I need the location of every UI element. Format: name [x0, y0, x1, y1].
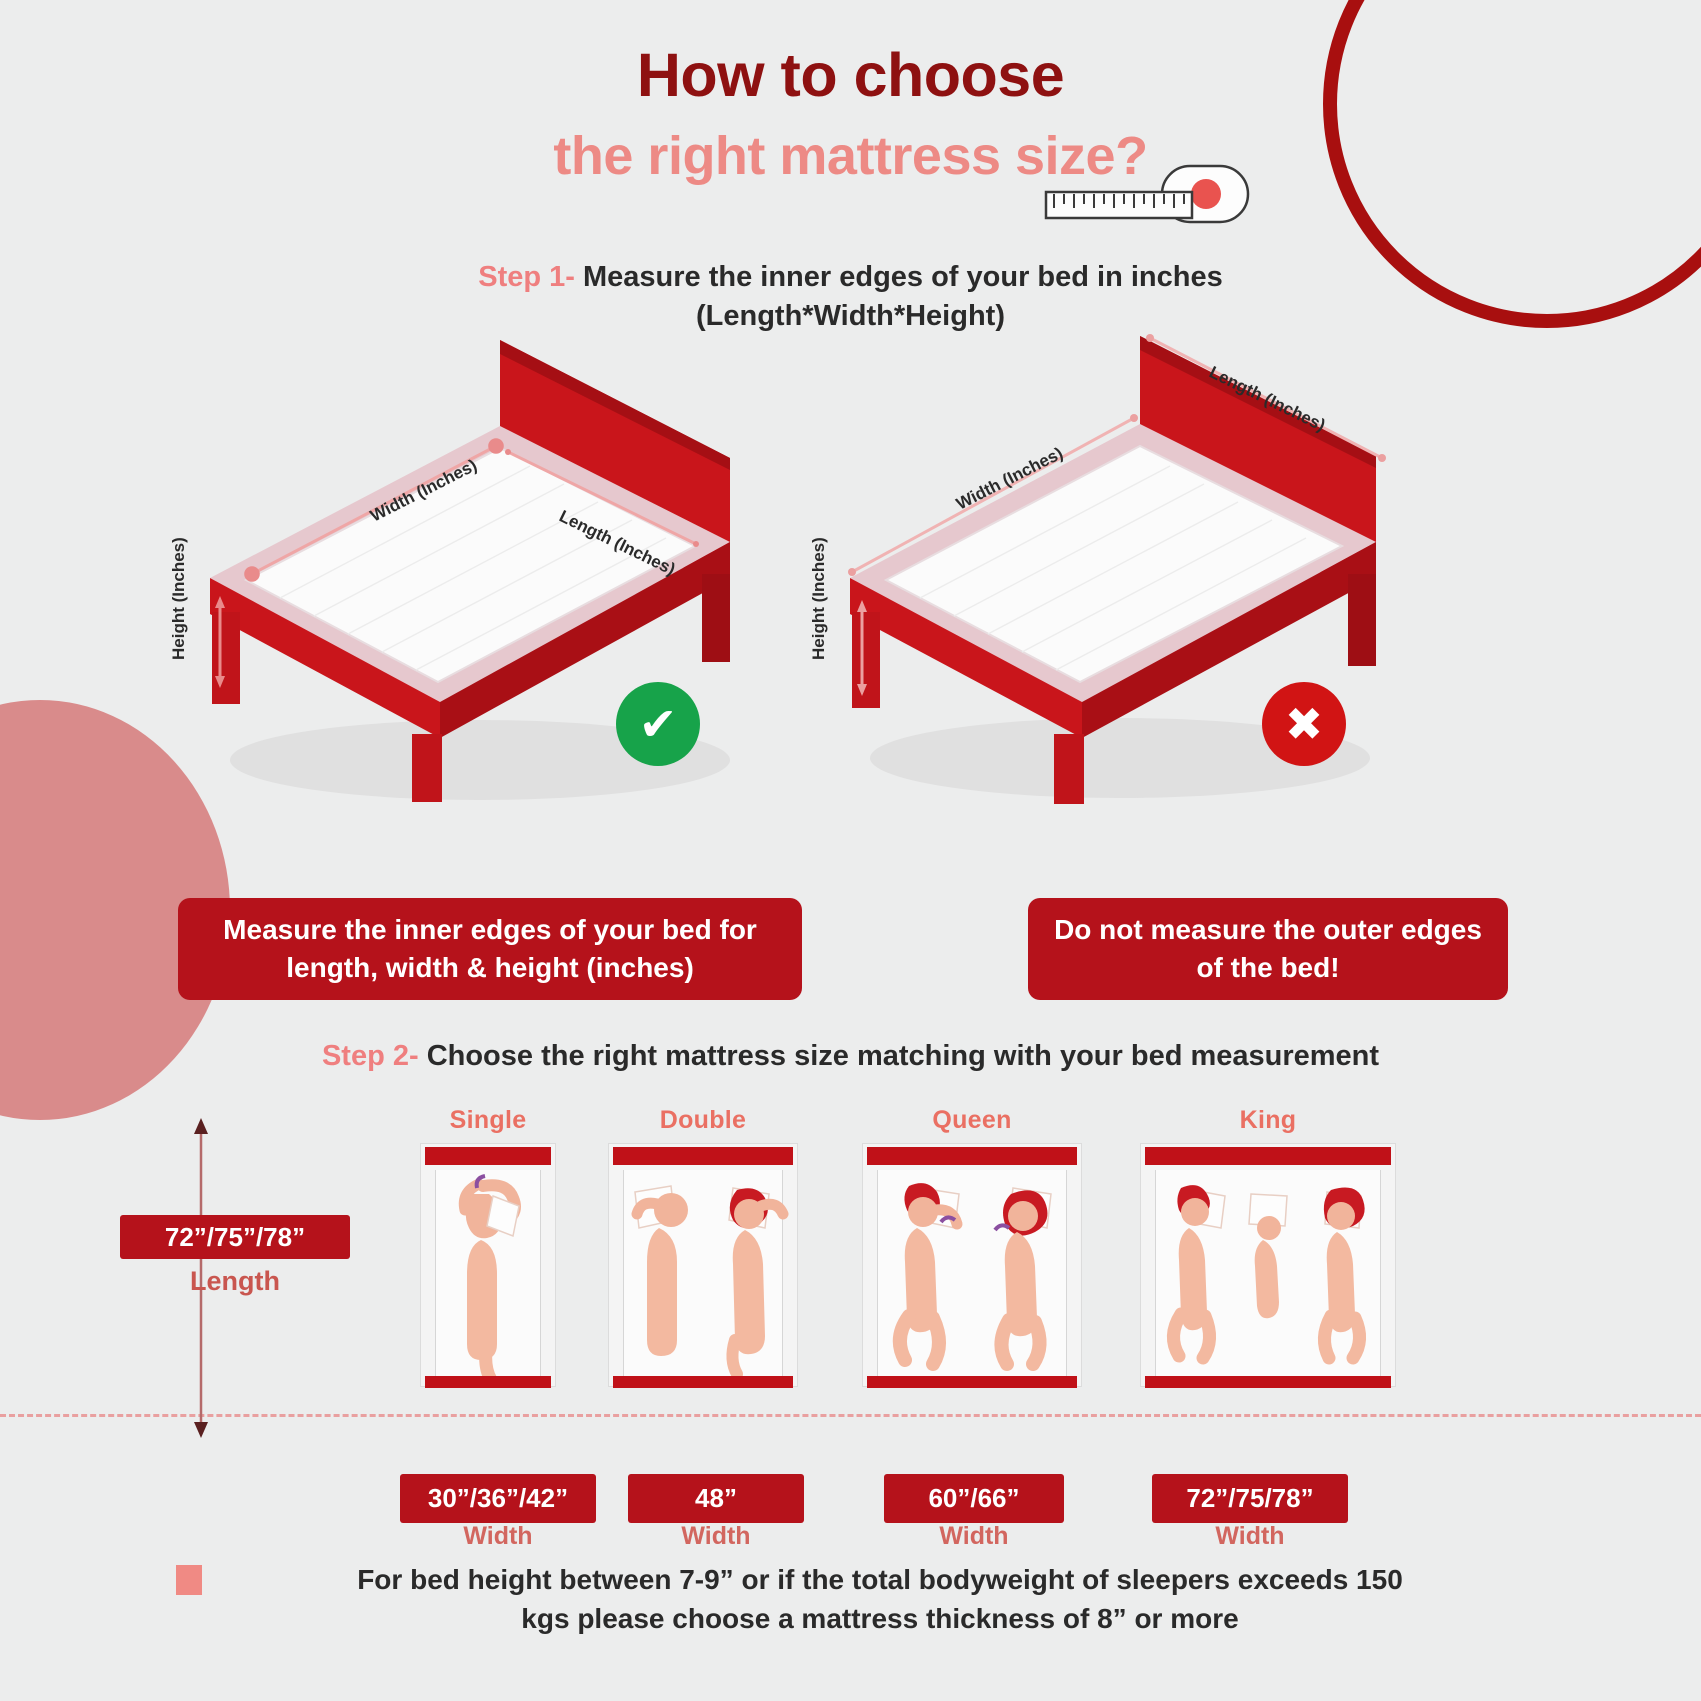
foot-bar	[1145, 1376, 1391, 1388]
sleeper-figure	[900, 1183, 959, 1364]
foot-bar	[613, 1376, 793, 1388]
sleeper-figure	[635, 1186, 688, 1356]
page-title-line2: the right mattress size?	[0, 125, 1701, 187]
sleeper-figure	[1249, 1194, 1287, 1318]
width-tag-single: 30”/36”/42”	[400, 1474, 596, 1523]
size-panel-single-bed	[420, 1143, 556, 1387]
step2-label: Step 2-	[322, 1040, 419, 1072]
size-panel-queen-bed	[862, 1143, 1082, 1387]
size-panel-king-bed	[1140, 1143, 1396, 1387]
size-panel-queen-caption: Queen	[862, 1106, 1082, 1135]
sleeper-figure	[1173, 1185, 1225, 1358]
size-panel-queen[interactable]: Queen	[862, 1106, 1082, 1387]
step1-label: Step 1-	[478, 261, 575, 293]
sleeper-figure	[729, 1188, 783, 1374]
width-label-single: Width	[400, 1522, 596, 1551]
cross-icon: ✖	[1262, 682, 1346, 766]
size-panel-single[interactable]: Single	[420, 1106, 556, 1387]
footnote: For bed height between 7-9” or if the to…	[180, 1560, 1580, 1638]
page-title-line1: How to choose	[0, 40, 1701, 110]
step2-text: Choose the right mattress size matching …	[427, 1040, 1379, 1072]
callout-measure-inner: Measure the inner edges of your bed for …	[178, 898, 802, 1000]
size-panel-king[interactable]: King	[1140, 1106, 1396, 1387]
step2-heading: Step 2- Choose the right mattress size m…	[0, 1040, 1701, 1073]
callout-do-not-measure-outer: Do not measure the outer edges of the be…	[1028, 898, 1508, 1000]
width-tag-queen: 60”/66”	[884, 1474, 1064, 1523]
size-panel-double[interactable]: Double	[608, 1106, 798, 1387]
measuring-tape-icon	[1040, 160, 1250, 235]
size-panel-double-bed	[608, 1143, 798, 1387]
sleeper-figure	[464, 1176, 519, 1380]
step1-text-line1: Measure the inner edges of your bed in i…	[583, 261, 1223, 293]
check-icon: ✔	[616, 682, 700, 766]
sleeper-figure	[995, 1188, 1051, 1364]
footnote-line2: kgs please choose a mattress thickness o…	[521, 1603, 1238, 1634]
infographic-canvas: How to choose the right mattress size? S…	[0, 0, 1701, 1701]
size-panel-single-caption: Single	[420, 1106, 556, 1135]
width-label-king: Width	[1152, 1522, 1348, 1551]
foot-bar	[867, 1376, 1077, 1388]
footnote-line1: For bed height between 7-9” or if the to…	[357, 1564, 1403, 1595]
size-panel-double-caption: Double	[608, 1106, 798, 1135]
bed-left-height-label: Height (Inches)	[169, 537, 188, 660]
bed-right-height-label: Height (Inches)	[809, 537, 828, 660]
width-tag-double: 48”	[628, 1474, 804, 1523]
width-label-double: Width	[628, 1522, 804, 1551]
size-panel-king-caption: King	[1140, 1106, 1396, 1135]
width-tag-king: 72”/75/78”	[1152, 1474, 1348, 1523]
width-label-queen: Width	[884, 1522, 1064, 1551]
foot-bar	[425, 1376, 551, 1388]
mattress-size-panels: Single	[0, 1106, 1701, 1426]
sleeper-figure	[1324, 1188, 1365, 1358]
